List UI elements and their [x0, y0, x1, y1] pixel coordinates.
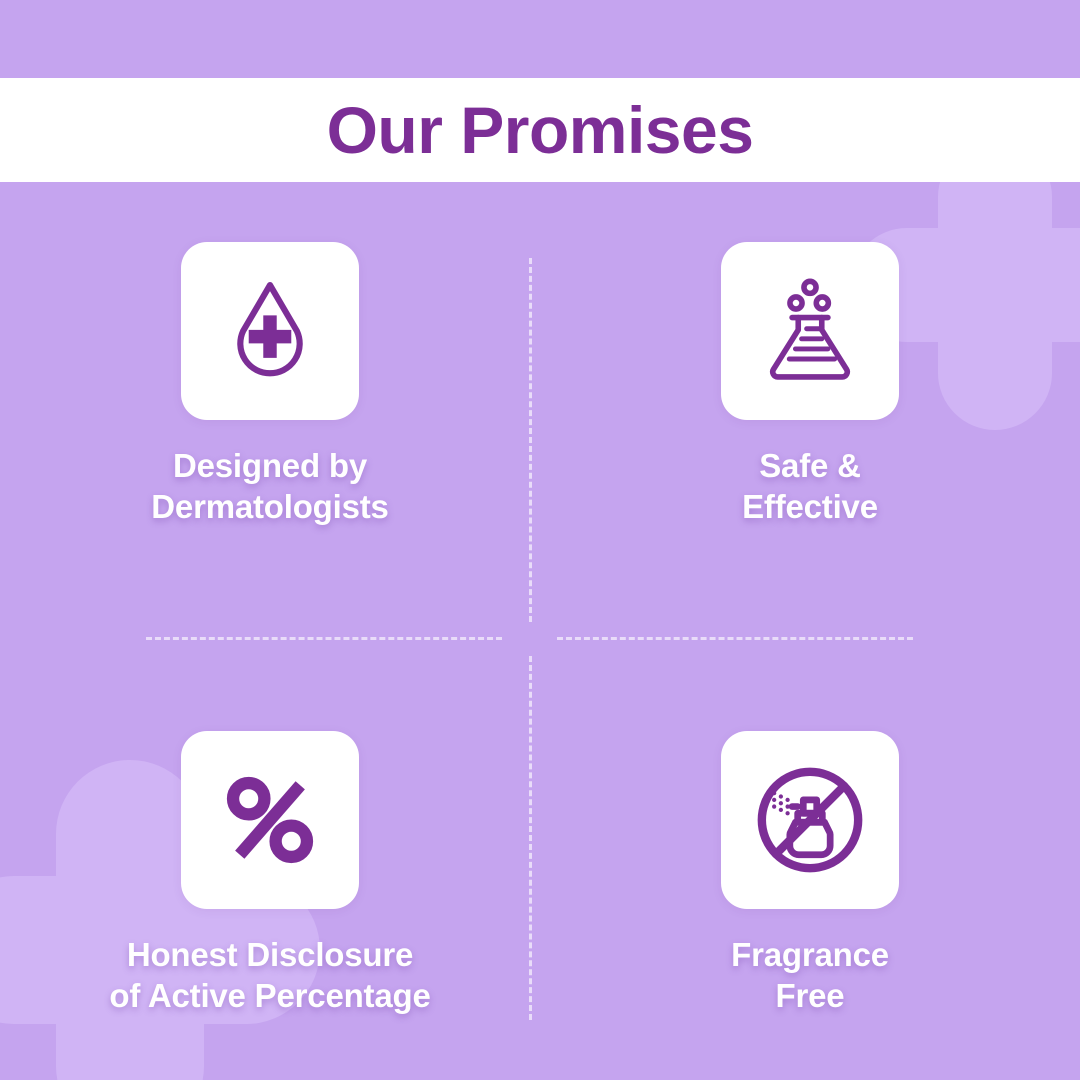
page-title: Our Promises: [327, 97, 754, 163]
header-band: Our Promises: [0, 78, 1080, 182]
percent-icon: [214, 764, 326, 876]
no-perfume-icon: [754, 764, 866, 876]
promise-label: Honest Disclosure of Active Percentage: [109, 935, 430, 1016]
promise-item-designed-by-dermatologists: Designed by Dermatologists: [0, 182, 540, 631]
promises-infographic: Our Promises Designed by Dermatologists: [0, 0, 1080, 1080]
promise-label: Fragrance Free: [731, 935, 889, 1016]
icon-card-safe-and-effective: [721, 242, 899, 420]
promise-item-fragrance-free: Fragrance Free: [540, 631, 1080, 1080]
promise-label: Safe & Effective: [742, 446, 878, 527]
water-drop-plus-icon: [214, 275, 326, 387]
lab-flask-icon: [754, 275, 866, 387]
promise-item-safe-and-effective: Safe & Effective: [540, 182, 1080, 631]
promise-item-honest-disclosure: Honest Disclosure of Active Percentage: [0, 631, 540, 1080]
icon-card-fragrance-free: [721, 731, 899, 909]
promises-grid: Designed by Dermatologists Safe & Effect…: [0, 182, 1080, 1080]
promise-label: Designed by Dermatologists: [151, 446, 388, 527]
icon-card-designed-by-dermatologists: [181, 242, 359, 420]
icon-card-honest-disclosure: [181, 731, 359, 909]
